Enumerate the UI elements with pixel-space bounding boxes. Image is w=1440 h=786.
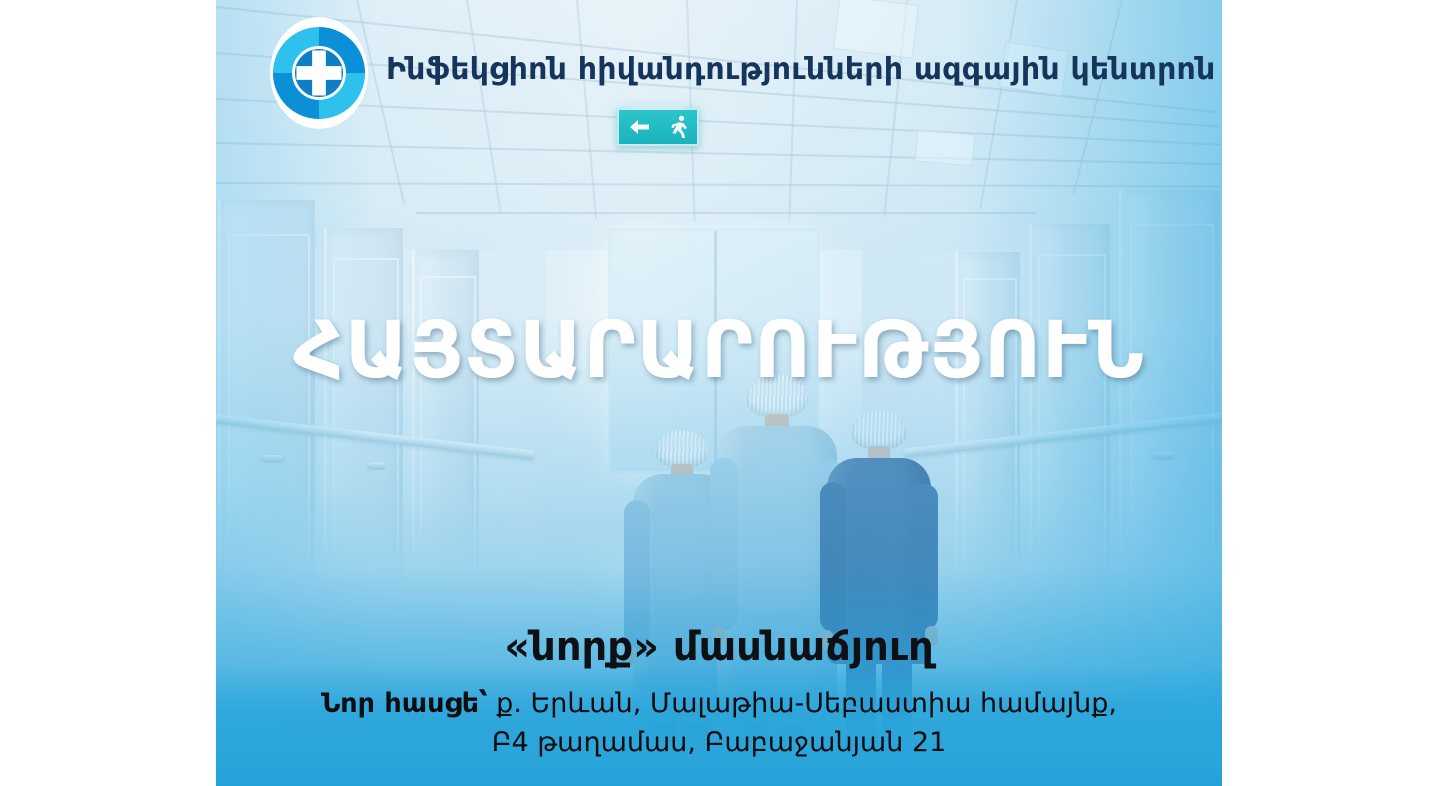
address-line-2: Բ4 թաղամաս, Բաբաջանյան 21 [240, 724, 1198, 762]
banner-header: Ինֆեկցիոն հիվանդությունների ազգային կենտ… [216, 0, 1222, 140]
address-line-1: Նոր հասցե՝ ք. Երևան, Մալաթիա-Սեբաստիա հա… [240, 685, 1198, 723]
page-title: ՀԱՅՏԱՐԱՐՈՒԹՅՈՒՆ [216, 312, 1222, 390]
medical-cross-circle-logo-icon [270, 17, 368, 129]
door-handle [262, 455, 284, 461]
announcement-details: «նորք» մասնաճյուղ Նոր հասցե՝ ք. Երևան, Մ… [216, 625, 1222, 762]
poster-canvas: Ինֆեկցիոն հիվանդությունների ազգային կենտ… [0, 0, 1440, 786]
announcement-banner: Ինֆեկցիոն հիվանդությունների ազգային կենտ… [216, 0, 1222, 786]
address-line-1-rest: ք. Երևան, Մալաթիա-Սեբաստիա համայնք, [488, 688, 1117, 719]
address-lead-label: Նոր հասցե՝ [321, 688, 488, 719]
logo-svg [270, 17, 368, 129]
door-handle [368, 462, 385, 468]
organization-title: Ինֆեկցիոն հիվանդությունների ազգային կենտ… [386, 55, 1216, 85]
door-handle [1152, 452, 1174, 458]
branch-name: «նորք» մասնաճյուղ [240, 625, 1198, 670]
